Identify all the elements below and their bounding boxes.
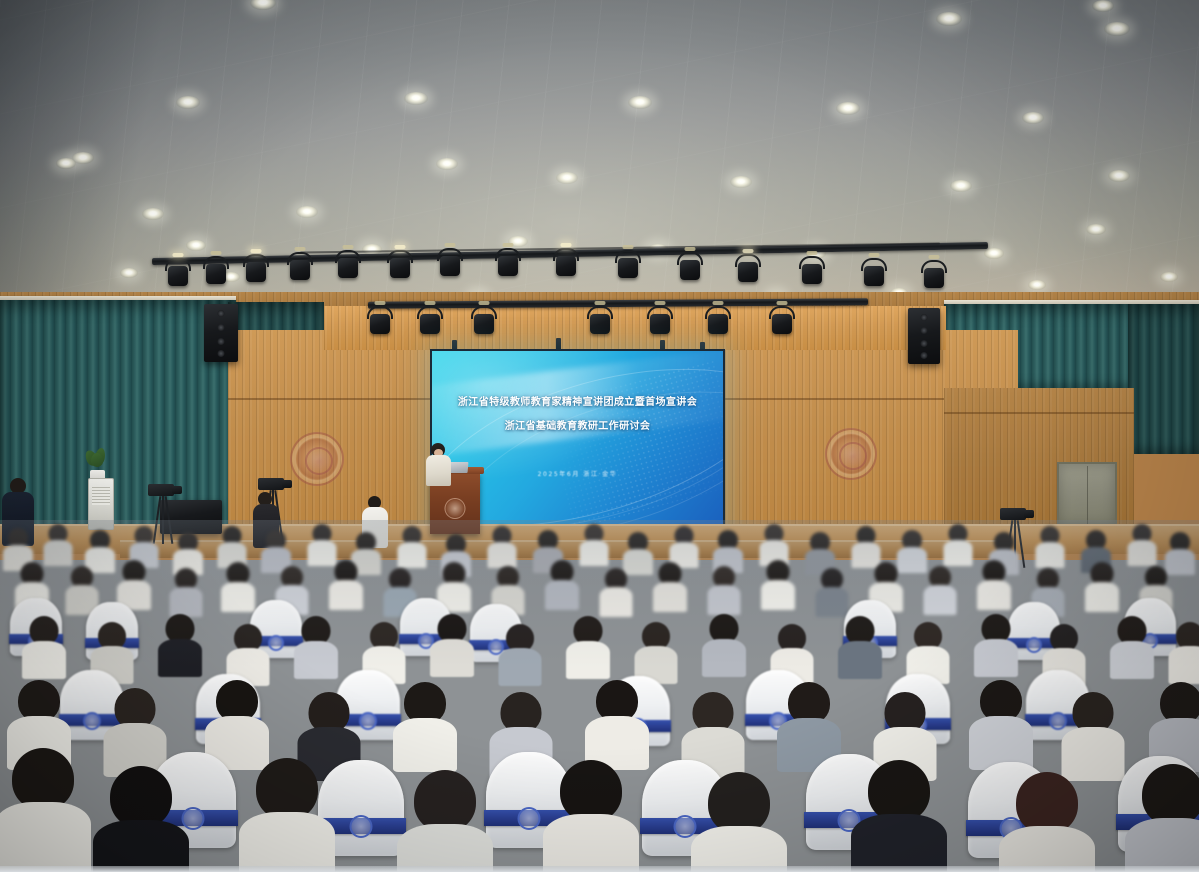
video-camera [1000,508,1026,520]
ceiling-downlight [556,172,578,184]
ceiling-downlight [1108,170,1130,182]
ceiling-downlight [628,96,652,109]
presenter [424,443,454,487]
camera-lens [172,486,182,494]
camera-lens [1024,510,1034,518]
wall-emblem-right [825,428,877,480]
camera-lens [282,480,292,488]
podium-emblem [445,498,466,519]
ceiling-downlight [836,102,860,115]
pa-speaker-array-right [908,308,940,364]
video-camera [258,478,284,490]
ceiling-downlight [56,158,76,169]
ceiling-downlight [120,268,138,278]
ceiling-downlight [936,12,962,26]
pa-speaker-array-left [204,304,238,362]
ceiling-downlight [296,206,318,218]
video-camera [148,484,174,496]
ceiling-downlight [1086,224,1106,235]
ceiling-downlight [142,208,164,220]
photo-bottom-border [0,866,1199,872]
screen-title-line2: 浙江省基础教育教研工作研讨会 [432,417,723,432]
ceiling-downlight [1104,22,1130,36]
ceiling-shadow-left [0,0,170,300]
presenter-torso [426,455,451,486]
ceiling-downlight [404,92,428,105]
ceiling-downlight [186,240,206,251]
screen-title-line1: 浙江省特级教师教育家精神宣讲团成立暨首场宣讲会 [432,393,723,408]
ceiling-downlight [984,248,1004,259]
wall-seam-right [944,412,1134,414]
stage-curtain-right-lower [1128,304,1199,454]
ceiling-downlight [436,158,458,170]
exit-door-right[interactable] [1057,462,1117,528]
ceiling-downlight [730,176,752,188]
ceiling-downlight [1160,272,1178,282]
conference-photograph: 浙江省特级教师教育家精神宣讲团成立暨首场宣讲会 浙江省基础教育教研工作研讨会 2… [0,0,1199,872]
ceiling-downlight [950,180,972,192]
ceiling-downlight [1028,280,1046,290]
ceiling-downlight [1092,0,1114,12]
ceiling-downlight [1022,112,1044,124]
seated-audience [0,520,1199,872]
ceiling-downlight [176,96,200,109]
